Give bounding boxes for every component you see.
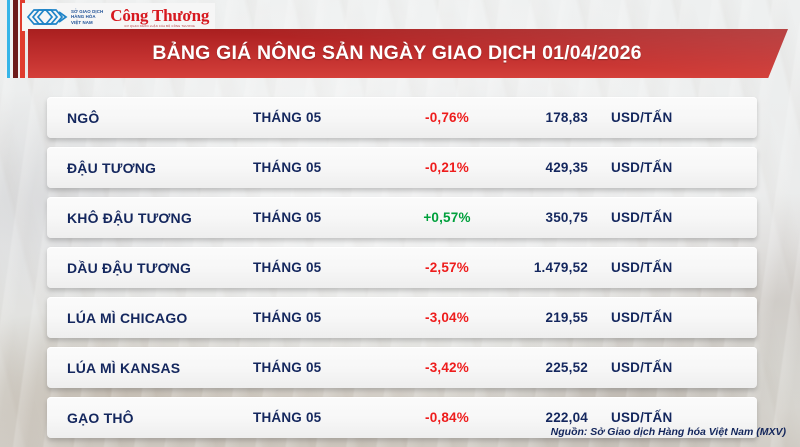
table-row[interactable]: NGÔTHÁNG 05-0,76%178,83USD/TẤN: [47, 97, 757, 138]
price-board-infographic: SỞ GIAO DỊCH HÀNG HÓA VIỆT NAM Công Thươ…: [0, 0, 800, 447]
table-row[interactable]: ĐẬU TƯƠNGTHÁNG 05-0,21%429,35USD/TẤN: [47, 147, 757, 188]
contract-month: THÁNG 05: [253, 260, 383, 275]
table-row[interactable]: LÚA MÌ KANSASTHÁNG 05-3,42%225,52USD/TẤN: [47, 347, 757, 388]
price-value: 429,35: [467, 160, 588, 175]
commodity-name: GẠO THÔ: [67, 410, 267, 426]
table-row[interactable]: KHÔ ĐẬU TƯƠNGTHÁNG 05+0,57%350,75USD/TẤN: [47, 197, 757, 238]
commodity-name: DẦU ĐẬU TƯƠNG: [67, 260, 267, 276]
mxv-hexagon-wave-icon: [26, 7, 68, 27]
logo-lockup: SỞ GIAO DỊCH HÀNG HÓA VIỆT NAM Công Thươ…: [22, 3, 215, 31]
price-value: 178,83: [467, 110, 588, 125]
contract-month: THÁNG 05: [253, 210, 383, 225]
contract-month: THÁNG 05: [253, 160, 383, 175]
congthuong-wordmark: Công Thương: [110, 7, 209, 24]
congthuong-logo: Công Thương CƠ QUAN NGÔN LUẬN CỦA BỘ CÔN…: [110, 7, 209, 28]
table-row[interactable]: DẦU ĐẬU TƯƠNGTHÁNG 05-2,57%1.479,52USD/T…: [47, 247, 757, 288]
page-title: BẢNG GIÁ NÔNG SẢN NGÀY GIAO DỊCH 01/04/2…: [28, 29, 788, 78]
price-value: 222,04: [467, 410, 588, 425]
price-unit: USD/TẤN: [611, 110, 672, 125]
commodity-name: LÚA MÌ KANSAS: [67, 360, 267, 376]
price-table: NGÔTHÁNG 05-0,76%178,83USD/TẤNĐẬU TƯƠNGT…: [47, 97, 757, 441]
congthuong-tagline: CƠ QUAN NGÔN LUẬN CỦA BỘ CÔNG THƯƠNG: [124, 25, 195, 28]
mxv-logo: SỞ GIAO DỊCH HÀNG HÓA VIỆT NAM: [26, 7, 103, 27]
price-value: 225,52: [467, 360, 588, 375]
commodity-name: LÚA MÌ CHICAGO: [67, 310, 267, 326]
source-note: Nguồn: Sở Giao dịch Hàng hóa Việt Nam (M…: [551, 426, 786, 438]
price-unit: USD/TẤN: [611, 260, 672, 275]
table-row[interactable]: LÚA MÌ CHICAGOTHÁNG 05-3,04%219,55USD/TẤ…: [47, 297, 757, 338]
contract-month: THÁNG 05: [253, 360, 383, 375]
commodity-name: ĐẬU TƯƠNG: [67, 160, 267, 176]
contract-month: THÁNG 05: [253, 310, 383, 325]
price-unit: USD/TẤN: [611, 410, 672, 425]
price-unit: USD/TẤN: [611, 360, 672, 375]
contract-month: THÁNG 05: [253, 410, 383, 425]
price-value: 1.479,52: [467, 260, 588, 275]
price-unit: USD/TẤN: [611, 160, 672, 175]
mxv-line-3: VIỆT NAM: [71, 20, 103, 26]
contract-month: THÁNG 05: [253, 110, 383, 125]
price-unit: USD/TẤN: [611, 310, 672, 325]
title-banner: BẢNG GIÁ NÔNG SẢN NGÀY GIAO DỊCH 01/04/2…: [28, 29, 788, 78]
mxv-wordmark: SỞ GIAO DỊCH HÀNG HÓA VIỆT NAM: [71, 9, 103, 26]
price-value: 219,55: [467, 310, 588, 325]
commodity-name: KHÔ ĐẬU TƯƠNG: [67, 210, 267, 226]
price-unit: USD/TẤN: [611, 210, 672, 225]
price-value: 350,75: [467, 210, 588, 225]
commodity-name: NGÔ: [67, 110, 267, 126]
